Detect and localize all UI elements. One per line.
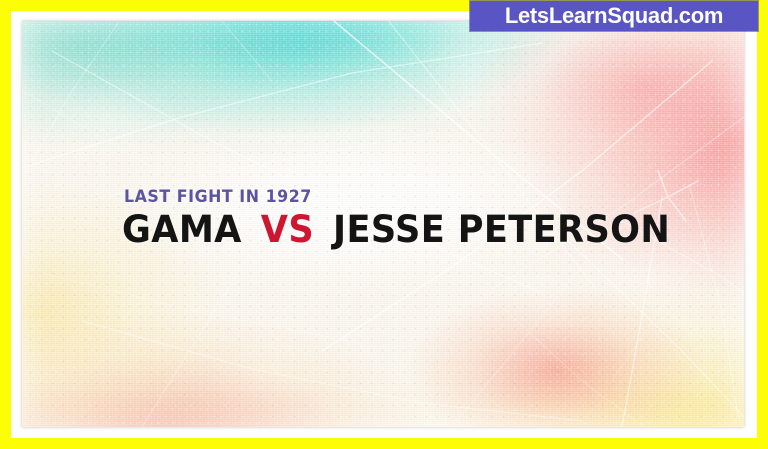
watermark-badge: LetsLearnSquad.com (470, 1, 758, 31)
poster-text-block: LAST FIGHT IN 1927 GAMA VS JESSE PETERSO… (122, 189, 699, 248)
matchup-title-row: GAMA VS JESSE PETERSON (122, 211, 670, 248)
poster-subtitle: LAST FIGHT IN 1927 (124, 189, 659, 206)
versus-label: VS (261, 211, 314, 248)
fighter-right-name: JESSE PETERSON (333, 211, 670, 248)
poster-artwork: LAST FIGHT IN 1927 GAMA VS JESSE PETERSO… (22, 21, 744, 427)
watermark-text: LetsLearnSquad.com (505, 5, 723, 27)
fighter-left-name: GAMA (122, 211, 242, 248)
poster-frame: LAST FIGHT IN 1927 GAMA VS JESSE PETERSO… (0, 0, 768, 449)
